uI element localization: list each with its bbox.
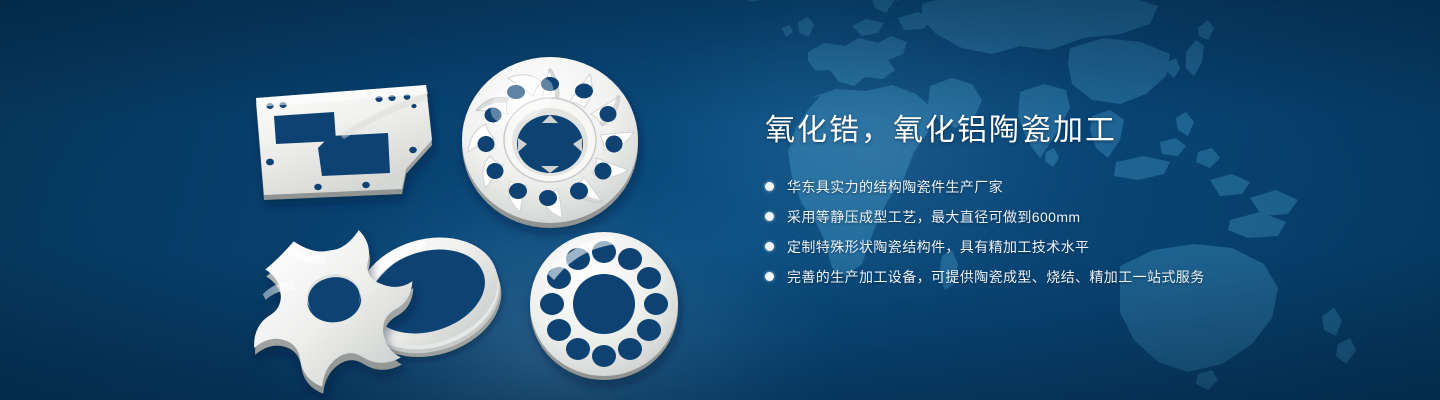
bullet-dot-icon <box>765 182 774 191</box>
ceramic-perforated-disc <box>530 232 678 380</box>
banner-headline: 氧化锆，氧化铝陶瓷加工 <box>765 112 1365 150</box>
list-item: 华东具实力的结构陶瓷件生产厂家 <box>765 175 1365 199</box>
feature-text: 定制特殊形状陶瓷结构件，具有精加工技术水平 <box>787 240 1089 254</box>
bullet-dot-icon <box>765 242 774 251</box>
hero-banner: 氧化锆，氧化铝陶瓷加工 华东具实力的结构陶瓷件生产厂家 采用等静压成型工艺，最大… <box>0 0 1440 400</box>
product-photo-group <box>230 40 700 380</box>
feature-text: 华东具实力的结构陶瓷件生产厂家 <box>787 180 1003 194</box>
bullet-dot-icon <box>765 212 774 221</box>
feature-list: 华东具实力的结构陶瓷件生产厂家 采用等静压成型工艺，最大直径可做到600mm 定… <box>765 175 1365 289</box>
list-item: 定制特殊形状陶瓷结构件，具有精加工技术水平 <box>765 235 1365 259</box>
list-item: 完善的生产加工设备，可提供陶瓷成型、烧结、精加工一站式服务 <box>765 265 1365 289</box>
ceramic-impeller <box>462 57 638 228</box>
background-top-shade <box>0 0 1440 120</box>
feature-text: 完善的生产加工设备，可提供陶瓷成型、烧结、精加工一站式服务 <box>787 270 1205 284</box>
ceramic-flat-plate <box>256 85 432 200</box>
list-item: 采用等静压成型工艺，最大直径可做到600mm <box>765 205 1365 229</box>
bullet-dot-icon <box>765 272 774 281</box>
feature-text: 采用等静压成型工艺，最大直径可做到600mm <box>787 210 1080 224</box>
banner-copy: 氧化锆，氧化铝陶瓷加工 华东具实力的结构陶瓷件生产厂家 采用等静压成型工艺，最大… <box>765 112 1365 295</box>
